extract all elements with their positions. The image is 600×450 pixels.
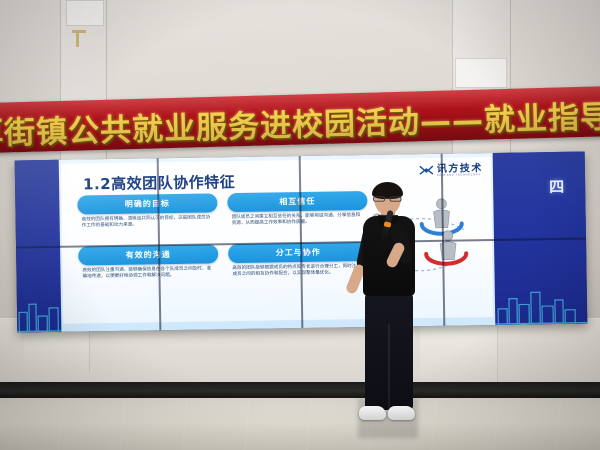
photo-scene: 厚街镇公共就业服务进校园活动——就业指导进创 四 [0,0,600,450]
feature-card-3-body: 高效的团队注重沟通，能够确保信息在各个队成员之间及时、准确地传递，以便更好地协调… [78,266,218,281]
glasses-icon [373,196,402,202]
cards-row-top: 明确的目标 高效的团队拥有明确、清晰且共同认可的目标，这是团队成员协作工作的基础… [77,191,378,237]
feature-card-3-heading: 有效的沟通 [126,249,171,261]
wall-tape-mark [76,33,79,47]
slide-title: 1.2高效团队协作特征 [83,171,235,194]
video-wall-left-panel [15,160,62,333]
presenter [340,184,436,436]
presenter-leg-seam [388,324,390,410]
cards-row-bottom: 有效的沟通 高效的团队注重沟通，能够确保信息在各个队成员之间及时、准确地传递，以… [78,242,379,288]
feature-card-1: 明确的目标 高效的团队拥有明确、清晰且共同认可的目标，这是团队成员协作工作的基础… [77,193,218,230]
presenter-left-shoe [359,406,386,420]
video-wall-right-text: 四 [549,178,564,196]
feature-card-2-heading: 相互信任 [279,196,315,208]
presenter-right-shoe [388,406,415,420]
led-video-wall: 四 1.2高效团队协作特征 [15,152,588,333]
skyline-graphic-right [495,282,588,325]
feature-card-1-pill: 明确的目标 [77,193,217,214]
logo-chinese-text: 讯方技术 [437,164,483,174]
video-wall-right-panel: 四 [493,152,588,325]
stage-baseboard [0,382,600,398]
x-arrow-mark-icon [419,164,434,177]
wall-paper-note [66,0,104,26]
company-logo: 讯方技术 XUNFANG TECHNOLOGY [419,163,483,177]
feature-cards: 明确的目标 高效的团队拥有明确、清晰且共同认可的目标，这是团队成员协作工作的基础… [77,191,378,287]
wall-tape-mark [72,30,86,33]
feature-card-3: 有效的沟通 高效的团队注重沟通，能够确保信息在各个队成员之间及时、准确地传递，以… [78,244,219,281]
floor-reflection-sheen [0,398,600,450]
feature-card-1-heading: 明确的目标 [125,198,170,210]
feature-card-1-body: 高效的团队拥有明确、清晰且共同认可的目标，这是团队成员协作工作的基础和动力来源。 [78,215,218,230]
wall-paper-note [455,58,507,88]
feature-card-3-pill: 有效的沟通 [78,244,218,265]
skyline-graphic-left [17,290,62,333]
logo-english-text: XUNFANG TECHNOLOGY [437,173,483,177]
feature-card-4-heading: 分工与协作 [276,247,321,259]
